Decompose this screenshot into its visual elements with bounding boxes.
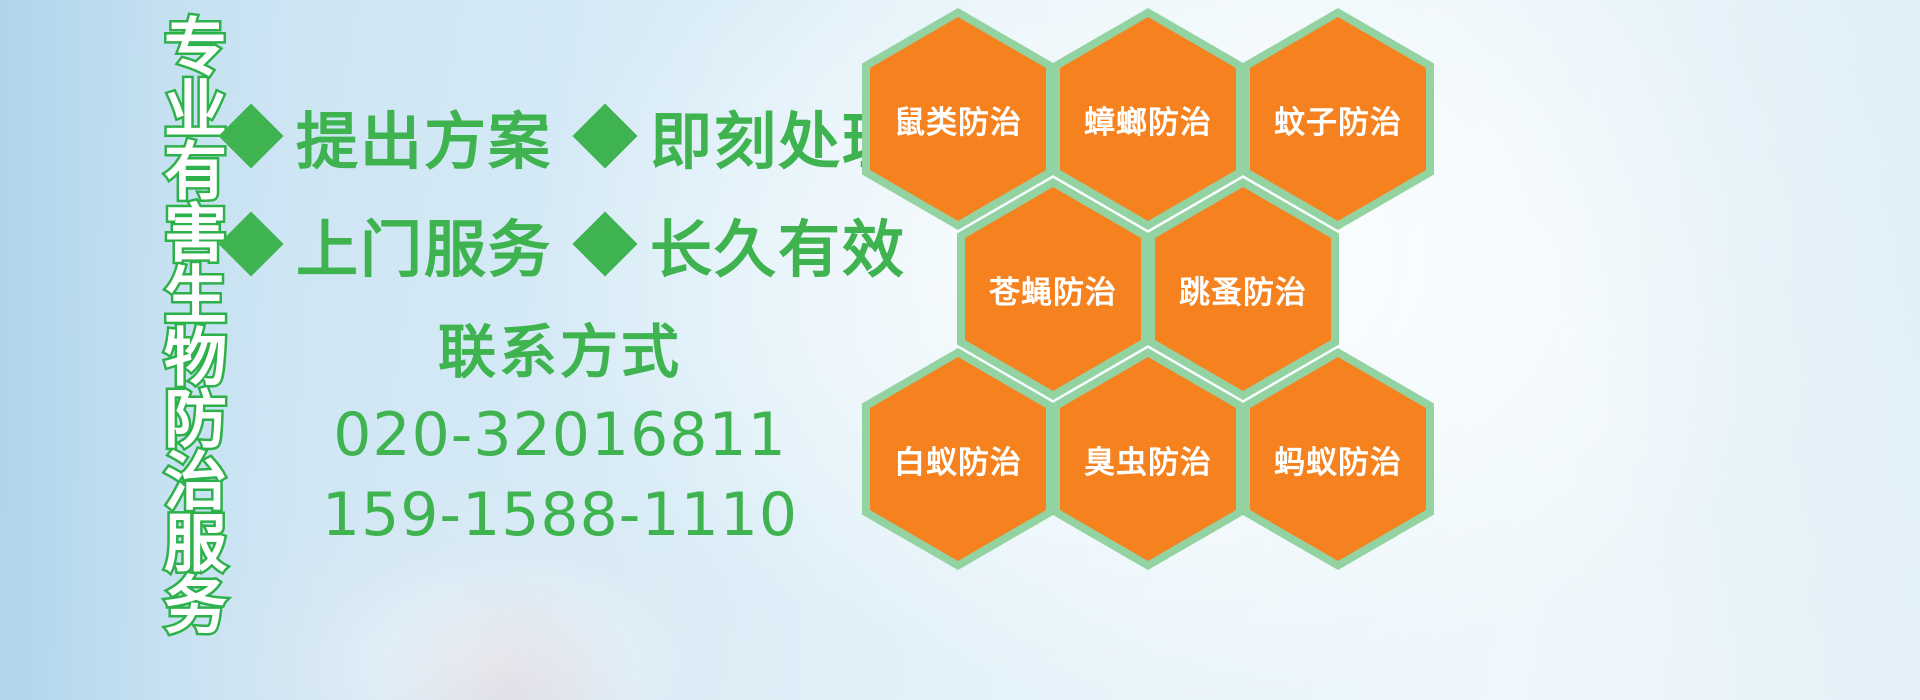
diamond-icon [572, 211, 637, 276]
background-gradient-right [1400, 0, 1920, 700]
feature-item-label: 上门服务 [296, 199, 552, 289]
service-hex-inner: 跳蚤防治 [1155, 187, 1331, 391]
diamond-icon [218, 103, 283, 168]
service-hex-label: 蚂蚁防治 [1274, 437, 1402, 482]
feature-row: 上门服务 长久有效 [228, 190, 868, 298]
diamond-icon [218, 211, 283, 276]
feature-row: 提出方案 即刻处理 [228, 82, 868, 190]
service-hex-inner: 白蚁防治 [870, 357, 1046, 561]
service-hex-label: 蟑螂防治 [1084, 97, 1212, 142]
service-hex-label: 跳蚤防治 [1179, 267, 1307, 312]
service-hex-inner: 鼠类防治 [870, 17, 1046, 221]
service-hex-inner: 蚂蚁防治 [1250, 357, 1426, 561]
service-hex-label: 臭虫防治 [1084, 437, 1212, 482]
feature-list: 提出方案 即刻处理 上门服务 长久有效 [228, 82, 868, 298]
feature-item-label: 提出方案 [296, 91, 552, 181]
vertical-headline: 专业有害生物防治服务 [104, 14, 222, 580]
contact-phone-mobile[interactable]: 159-1588-1110 [300, 476, 820, 555]
promo-banner: 专业有害生物防治服务 提出方案 即刻处理 上门服务 长久有效 联系方式 020-… [0, 0, 1920, 700]
background-glow-accent [380, 570, 640, 700]
service-honeycomb: 鼠类防治 蟑螂防治 蚊子防治 苍蝇防治 跳蚤防治 白蚁防治 [862, 0, 1462, 700]
service-hex-inner: 蚊子防治 [1250, 17, 1426, 221]
contact-phone-landline[interactable]: 020-32016811 [300, 396, 820, 475]
service-hex-inner: 蟑螂防治 [1060, 17, 1236, 221]
service-hex-inner: 苍蝇防治 [965, 187, 1141, 391]
service-hex-inner: 臭虫防治 [1060, 357, 1236, 561]
service-hex-label: 苍蝇防治 [989, 267, 1117, 312]
contact-block: 联系方式 020-32016811 159-1588-1110 [300, 318, 820, 555]
service-hex-label: 蚊子防治 [1274, 97, 1402, 142]
contact-heading: 联系方式 [300, 318, 820, 386]
diamond-icon [572, 103, 637, 168]
service-hex-label: 白蚁防治 [894, 437, 1022, 482]
service-hex-label: 鼠类防治 [894, 97, 1022, 142]
